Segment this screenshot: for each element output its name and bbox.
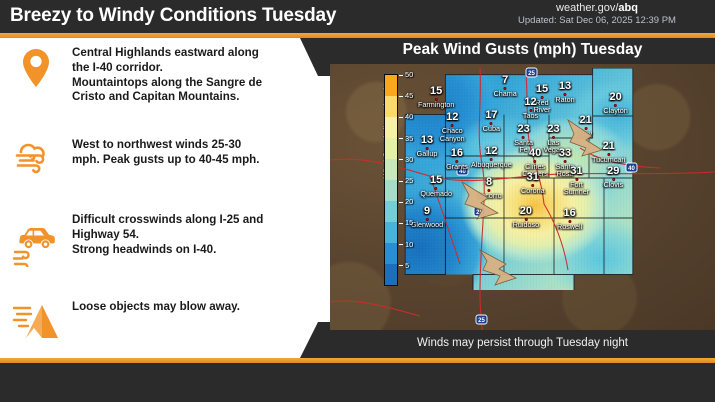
colorbar-segment <box>385 96 397 117</box>
colorbar-tick: 20 <box>399 197 413 206</box>
map-footer-note: Winds may persist through Tuesday night <box>330 337 715 349</box>
site-url-prefix: weather.gov/ <box>556 2 618 14</box>
colorbar-tick: 40 <box>399 112 413 121</box>
colorbar-segment <box>385 264 397 285</box>
car-crosswind-icon <box>0 213 72 267</box>
impact-item-4: Loose objects may blow away. <box>0 300 330 344</box>
map-pin-icon <box>0 46 72 88</box>
wind-cloud-icon <box>0 138 72 174</box>
impact-text-4: Loose objects may blow away. <box>72 300 330 315</box>
impact-line: Central Highlands eastward along <box>72 46 308 61</box>
county-boundaries <box>404 68 634 290</box>
map-title: Peak Wind Gusts (mph) Tuesday <box>330 41 715 59</box>
colorbar-segment <box>385 243 397 264</box>
footer-bar: NATIONAL WEATHER SERVICE ALBUQUERQUE Fol… <box>0 363 715 402</box>
colorbar-segment <box>385 201 397 222</box>
impact-line: West to northwest winds 25-30 <box>72 138 308 153</box>
colorbar-tick: 50 <box>399 70 413 79</box>
impact-item-3: Difficult crosswinds along I-25 and High… <box>0 213 330 267</box>
colorbar-tick: 45 <box>399 91 413 100</box>
colorbar-segment <box>385 138 397 159</box>
impact-line: Loose objects may blow away. <box>72 300 308 315</box>
header-meta: weather.gov/abq Updated: Sat Dec 06, 202… <box>487 2 707 26</box>
impact-text-1: Central Highlands eastward along the I-4… <box>72 46 330 105</box>
blowing-tent-icon <box>0 300 72 344</box>
colorbar: Wind Gust (mile per hour) 50454035302520… <box>358 70 404 298</box>
impact-line: Strong headwinds on I-40. <box>72 243 308 258</box>
colorbar-tick: 10 <box>399 240 413 249</box>
colorbar-tick: 35 <box>399 134 413 143</box>
site-url: weather.gov/abq <box>487 2 707 14</box>
colorbar-segment <box>385 222 397 243</box>
colorbar-ticks: 5045403530252015105 <box>399 70 429 290</box>
impact-line: Mountaintops along the Sangre de <box>72 76 308 91</box>
impact-text-2: West to northwest winds 25-30 mph. Peak … <box>72 138 330 168</box>
impact-line: the I-40 corridor. <box>72 61 308 76</box>
impacts-panel: Central Highlands eastward along the I-4… <box>0 38 330 358</box>
colorbar-tick: 15 <box>399 218 413 227</box>
colorbar-tick: 30 <box>399 155 413 164</box>
colorbar-tick: 5 <box>399 261 409 270</box>
impact-item-1: Central Highlands eastward along the I-4… <box>0 46 330 105</box>
new-mexico-gust-raster <box>404 68 634 290</box>
colorbar-segment <box>385 117 397 138</box>
impact-text-3: Difficult crosswinds along I-25 and High… <box>72 213 330 257</box>
map-panel: Peak Wind Gusts (mph) Tuesday <box>330 38 715 358</box>
impact-line: Highway 54. <box>72 228 308 243</box>
impact-line: Difficult crosswinds along I-25 and <box>72 213 308 228</box>
colorbar-tick: 25 <box>399 176 413 185</box>
page-title: Breezy to Windy Conditions Tuesday <box>10 5 336 27</box>
weather-graphic: Breezy to Windy Conditions Tuesday weath… <box>0 0 715 402</box>
impact-item-2: West to northwest winds 25-30 mph. Peak … <box>0 138 330 174</box>
colorbar-segment <box>385 75 397 96</box>
site-url-office: abq <box>618 2 638 14</box>
header-bar: Breezy to Windy Conditions Tuesday weath… <box>0 0 715 33</box>
updated-timestamp: Updated: Sat Dec 06, 2025 12:39 PM <box>487 15 707 26</box>
colorbar-segment <box>385 180 397 201</box>
impact-line: Cristo and Capitan Mountains. <box>72 90 308 105</box>
impact-line: mph. Peak gusts up to 40-45 mph. <box>72 153 308 168</box>
map-footer: Winds may persist through Tuesday night <box>330 330 715 358</box>
colorbar-segment <box>385 159 397 180</box>
colorbar-strip <box>384 74 398 286</box>
